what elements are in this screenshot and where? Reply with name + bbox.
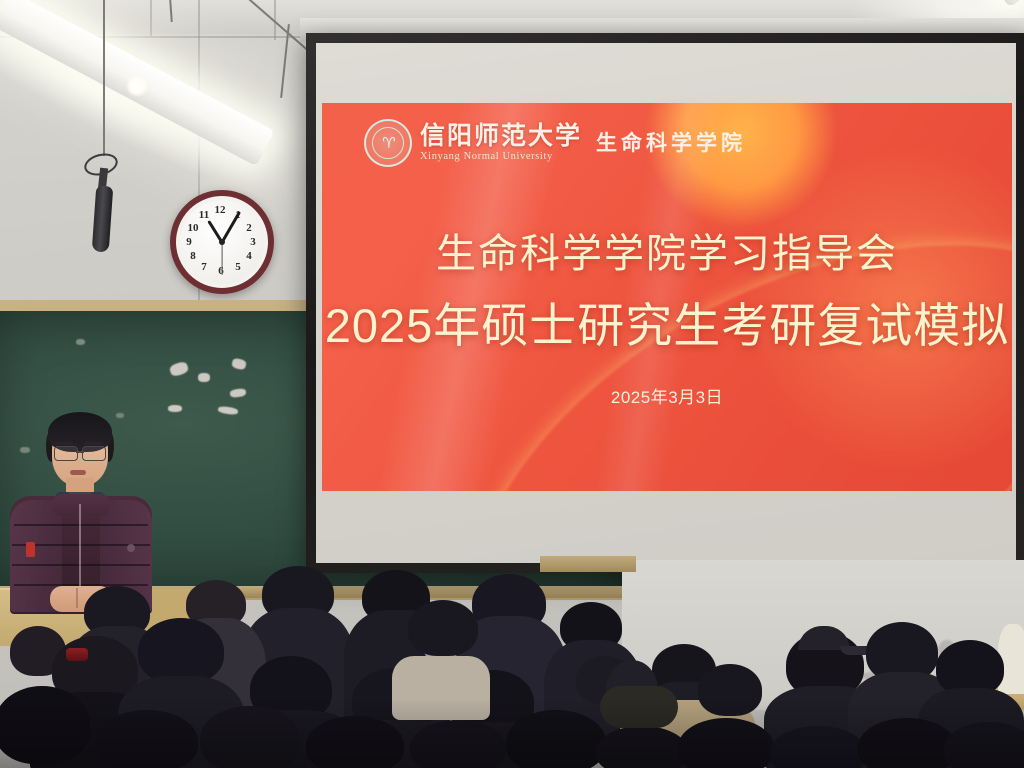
- university-seal-icon: ♈: [364, 119, 412, 167]
- presentation-slide: ♈ 信阳师范大学 Xinyang Normal University 生命科学学…: [322, 103, 1012, 491]
- college-name-cn: 生命科学学院: [596, 133, 746, 154]
- chalk-mark-2: [198, 373, 210, 382]
- clock-numeral-9: 9: [182, 236, 196, 248]
- light-hotspot-left: [126, 75, 148, 97]
- chalk-mark-4: [230, 388, 247, 398]
- university-logo-lockup: ♈ 信阳师范大学 Xinyang Normal University 生命科学学…: [364, 119, 746, 167]
- classroom-photo: 12 1 2 3 4 5 6 7 8 9 10 11: [0, 0, 1024, 768]
- clock-numeral-10: 10: [186, 222, 200, 234]
- clock-numeral-3: 3: [246, 236, 260, 248]
- clock-numeral-7: 7: [197, 261, 211, 273]
- student-head: [138, 618, 224, 684]
- student-head: [408, 600, 478, 656]
- lecturer-jacket-collar: [52, 494, 110, 516]
- lecturer-glasses-left-lens: [54, 446, 78, 461]
- clock-numeral-5: 5: [231, 261, 245, 273]
- university-name-block: 信阳师范大学 Xinyang Normal University: [420, 124, 582, 163]
- audience-shadow-gradient: [0, 698, 1024, 768]
- slide-date: 2025年3月3日: [322, 383, 1012, 408]
- university-seal-inner-ring: ♈: [372, 127, 404, 159]
- university-name-cn: 信阳师范大学: [420, 124, 582, 149]
- seated-students: [0, 560, 1024, 768]
- lecturer-glasses-bridge: [76, 451, 84, 453]
- lecturer-glasses-right-lens: [82, 446, 106, 461]
- slide-title-line1: 生命科学学院学习指导会: [322, 221, 1012, 279]
- jacket-quilt-line-1: [14, 524, 148, 526]
- clock-numeral-2: 2: [242, 222, 256, 234]
- university-name-en: Xinyang Normal University: [420, 152, 582, 163]
- chalk-mark-7: [76, 339, 85, 345]
- clock-numeral-11: 11: [197, 209, 211, 221]
- clock-numeral-12: 12: [213, 204, 227, 216]
- microphone-cable: [103, 0, 105, 156]
- chalk-mark-5: [168, 405, 182, 412]
- lecturer-jacket-badge: [26, 542, 35, 557]
- clock-numeral-8: 8: [186, 250, 200, 262]
- clock-second-hand: [221, 242, 222, 275]
- lecturer-brow-left: [55, 442, 73, 445]
- chalk-mark-1: [169, 361, 190, 378]
- slide-title-line2: 2025年硕士研究生考研复试模拟: [322, 287, 1012, 356]
- hair-clip-accessory: [66, 648, 88, 661]
- lecturer-jacket-logo: [127, 544, 135, 552]
- wall-clock: 12 1 2 3 4 5 6 7 8 9 10 11: [170, 190, 274, 294]
- chalk-mark-6: [218, 406, 239, 416]
- clock-face: 12 1 2 3 4 5 6 7 8 9 10 11: [180, 200, 264, 284]
- wall-seam-vertical: [150, 0, 152, 36]
- clock-center-pin: [219, 239, 225, 245]
- university-seal-figure: ♈: [382, 136, 393, 151]
- chalk-mark-3: [231, 357, 247, 370]
- lecturer-mouth: [70, 470, 86, 475]
- lecturer-brow-right: [84, 442, 102, 445]
